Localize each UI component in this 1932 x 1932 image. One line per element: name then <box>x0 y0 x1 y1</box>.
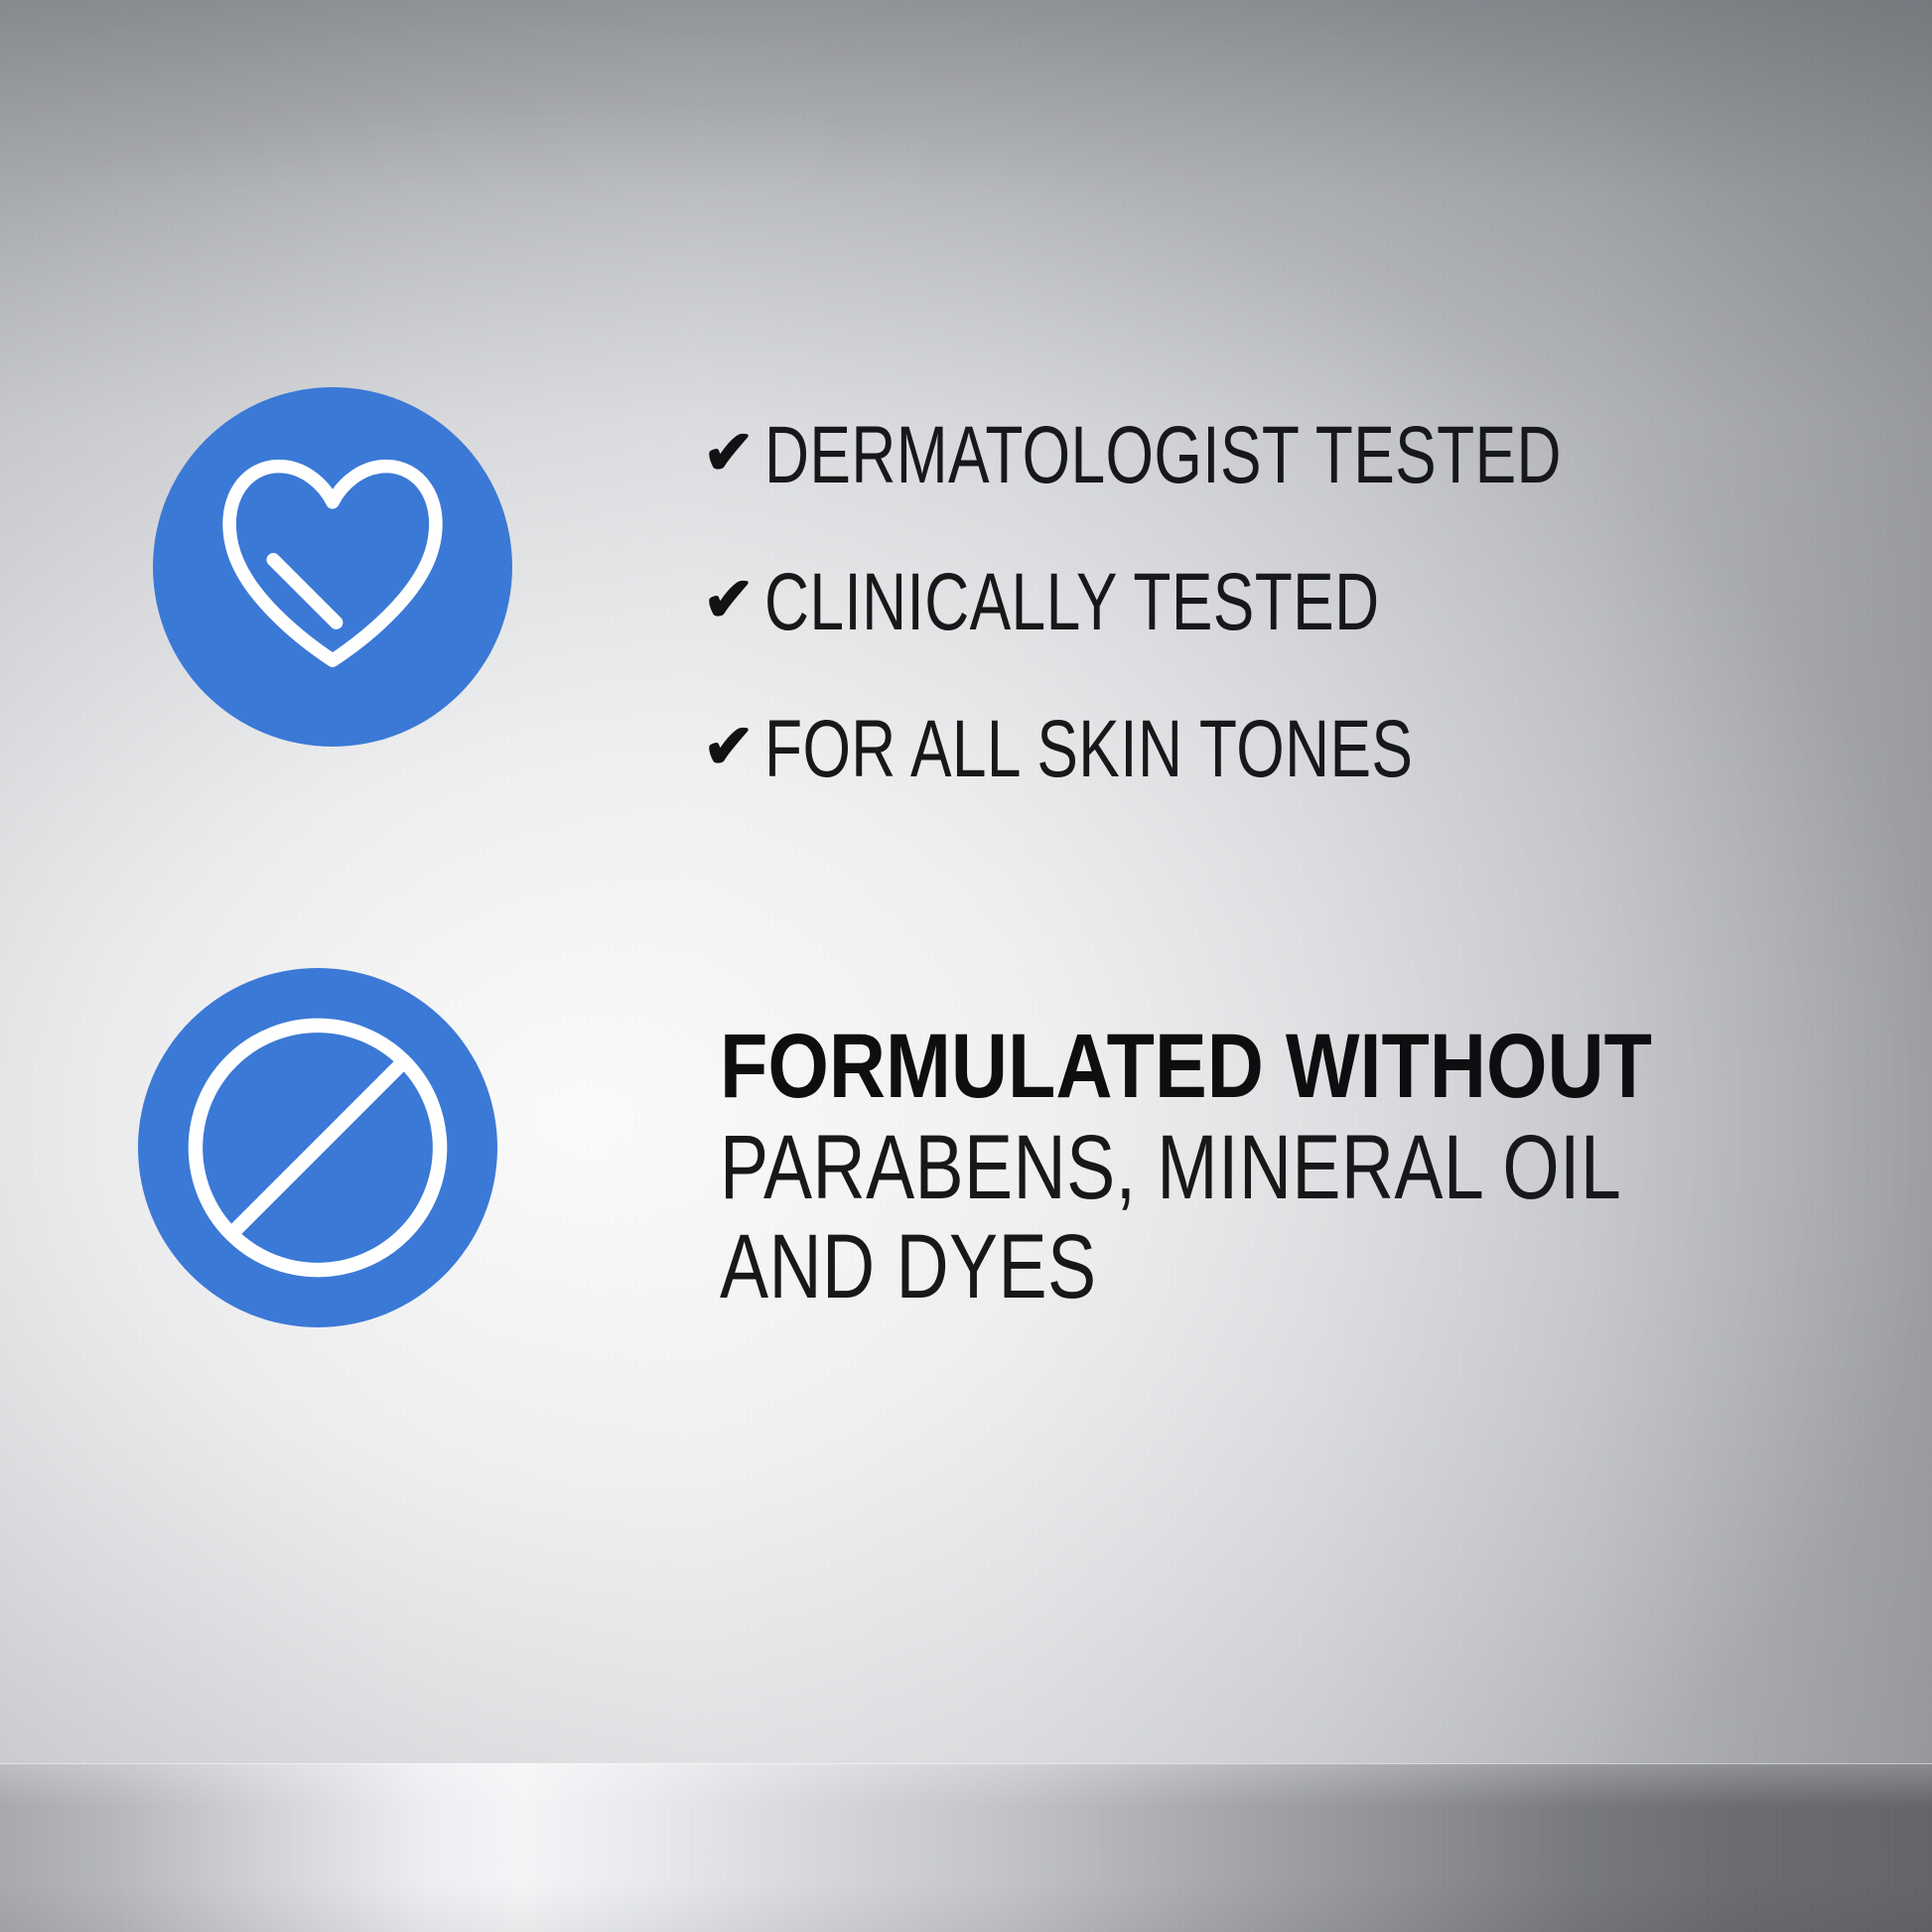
list-item: ✔ FOR ALL SKIN TONES <box>720 676 1862 823</box>
no-prohibition-icon <box>138 968 497 1327</box>
claim-label-clinically-tested: CLINICALLY TESTED <box>764 562 1598 643</box>
bottom-metal-strip <box>0 1763 1932 1932</box>
formulated-without-line-2: AND DYES <box>720 1219 1633 1316</box>
list-item: ✔ DERMATOLOGIST TESTED <box>720 382 1862 529</box>
bottom-strip-streaks <box>0 1763 1932 1932</box>
heart-badge <box>153 387 512 747</box>
background-horizontal-bands <box>0 0 1932 1932</box>
prohibition-badge <box>138 968 497 1327</box>
list-item: ✔ CLINICALLY TESTED <box>720 529 1862 676</box>
check-icon: ✔ <box>703 570 764 631</box>
formulated-without-block: FORMULATED WITHOUT PARABENS, MINERAL OIL… <box>720 1021 1862 1315</box>
claim-label-dermatologist-tested: DERMATOLOGIST TESTED <box>764 415 1598 496</box>
check-icon: ✔ <box>703 423 764 484</box>
formulated-without-line-1: PARABENS, MINERAL OIL <box>720 1120 1633 1217</box>
product-claims-panel: ✔ DERMATOLOGIST TESTED ✔ CLINICALLY TEST… <box>0 0 1932 1932</box>
claim-label-for-all-skin-tones: FOR ALL SKIN TONES <box>764 709 1598 790</box>
claims-checklist: ✔ DERMATOLOGIST TESTED ✔ CLINICALLY TEST… <box>720 382 1862 823</box>
formulated-without-heading: FORMULATED WITHOUT <box>720 1021 1702 1112</box>
heart-outline-icon <box>153 387 512 747</box>
check-icon: ✔ <box>703 717 764 778</box>
